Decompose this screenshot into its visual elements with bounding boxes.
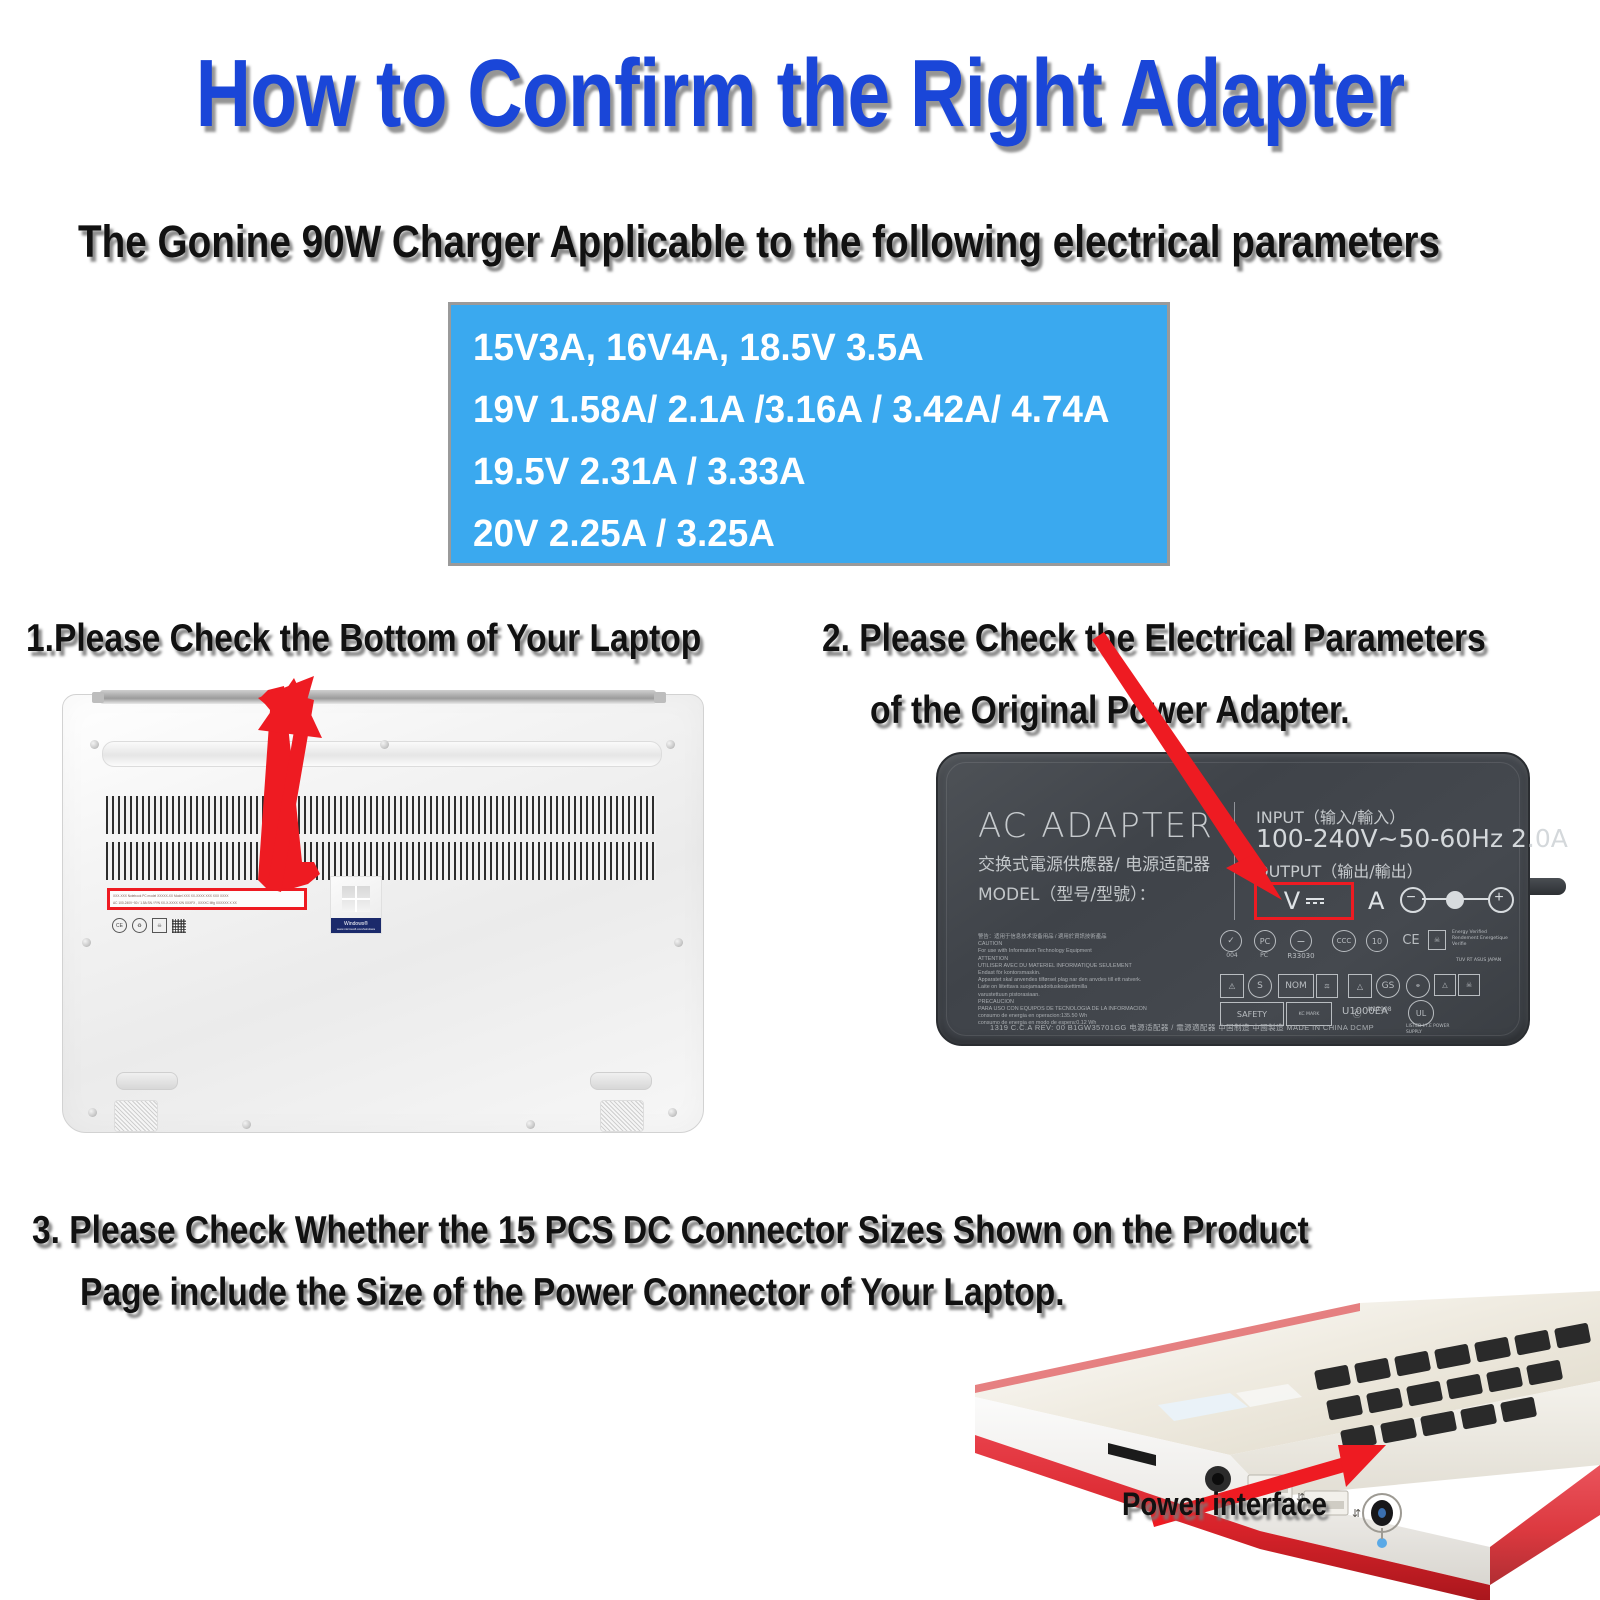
fineprint-line: Apparatet skal anvendes tilførsel plag n… <box>978 977 1208 984</box>
windows-logo-icon <box>342 886 370 912</box>
speaker-grille <box>114 1100 158 1132</box>
warning-triangle-icon: ⚠ <box>1220 974 1244 998</box>
section-3-heading-line2: Page include the Size of the Power Conne… <box>80 1270 1065 1316</box>
fineprint-line: For use with Information Technology Equi… <box>978 948 1208 955</box>
s-mark-icon: S <box>1248 974 1272 998</box>
adapter-bottom-line: 1319 C.C.A REV: 00 B1GW35701GG 电源适配器 / 電… <box>990 1022 1374 1033</box>
cert-code-004: 004 <box>1220 952 1244 959</box>
screw-hole <box>88 1108 97 1117</box>
windows-sticker-line2: www.microsoft.com/windows <box>337 927 375 931</box>
laptop-label-line-2: AC 100-240V~50 / 1.5A SN / P/N XX-X-XXXX… <box>113 901 301 906</box>
screw-hole <box>668 1108 677 1117</box>
svg-text:⇵: ⇵ <box>1352 1507 1361 1520</box>
subtitle: The Gonine 90W Charger Applicable to the… <box>78 216 1440 268</box>
vent-row-2 <box>106 842 656 880</box>
hinge-cap-left <box>92 692 104 703</box>
adapter-output-a: A <box>1368 887 1384 915</box>
adapter-output-v: V <box>1284 887 1300 915</box>
adapter-chinese-subtitle: 交换式電源供應器/ 电源适配器 <box>978 850 1210 875</box>
laptop-ports-photo: ⇵ ⇵ <box>930 1285 1600 1600</box>
ce-mark-icon: CE <box>1398 930 1424 950</box>
crossed-bin-icon: ☠ <box>1458 974 1480 996</box>
section-2-heading-line1: 2. Please Check the Electrical Parameter… <box>822 616 1486 662</box>
ul-listed-text: LISTED I.T.E POWER SUPPLY <box>1406 1024 1466 1035</box>
tuv-asus-mark: TUV RT ASUS JAPAN <box>1456 958 1512 964</box>
ccc-mark-icon: CCC <box>1332 930 1356 952</box>
laptop-hinge <box>100 690 656 704</box>
screw-hole <box>526 1120 535 1129</box>
fineprint-line: 警告：适用于信息技术设备用品 / 適用於資訊技術產品 <box>978 934 1208 941</box>
nom-mark-icon: NOM <box>1278 974 1314 998</box>
u1000ea-code: U1000EA <box>1342 1006 1388 1017</box>
fineprint-line: UTILISER AVEC DU MATERIEL INFORMATIQUE S… <box>978 963 1208 970</box>
polarity-icon: − + <box>1400 886 1510 914</box>
screw-hole <box>242 1120 251 1129</box>
psb-mark-icon: ⚖ <box>1316 974 1338 998</box>
section-2-heading-line2: of the Original Power Adapter. <box>870 688 1350 734</box>
section-1-heading: 1.Please Check the Bottom of Your Laptop <box>26 616 701 662</box>
fineprint-line: consumo de energia en operacion:135.50 W… <box>978 1013 1208 1020</box>
spec-line-1: 15V3A, 16V4A, 18.5V 3.5A <box>473 327 1146 369</box>
spec-line-4: 20V 2.25A / 3.25A <box>473 513 1146 555</box>
fineprint-line: CAUTION <box>978 941 1208 948</box>
gs-mark-icon: GS <box>1376 974 1400 998</box>
rubber-foot <box>590 1072 652 1090</box>
screw-hole <box>90 740 99 749</box>
windows-sticker: Windows® www.microsoft.com/windows <box>330 876 382 934</box>
fineprint-line: ATTENTION <box>978 956 1208 963</box>
laptop-side-illustration: ⇵ ⇵ <box>930 1285 1600 1600</box>
adapter-output-highlight: V <box>1254 882 1354 920</box>
ul-mark-icon: UL <box>1408 1000 1434 1026</box>
spec-line-3: 19.5V 2.31A / 3.33A <box>473 451 1146 493</box>
rubber-foot <box>116 1072 178 1090</box>
adapter-output-label: OUTPUT（输出/輸出） <box>1256 858 1423 882</box>
fineprint-line: Laite on liitettava suojamaadoituskosket… <box>978 984 1208 991</box>
screw-hole <box>82 938 91 947</box>
vent-row-1 <box>106 796 656 834</box>
energy-verified-mark: Energy Verified Rendement Energetique Ve… <box>1452 930 1508 948</box>
laptop-label-line-1: XXX-XXX Notebook PC model XXXXX-XX Model… <box>113 894 301 899</box>
fineprint-line: varustettuun pistorasiaan. <box>978 992 1208 999</box>
infographic-canvas: How to Confirm the Right Adapter The Gon… <box>0 0 1600 1600</box>
section-3-heading-line1: 3. Please Check Whether the 15 PCS DC Co… <box>32 1208 1309 1254</box>
eac-mark-icon: РС <box>1254 930 1276 952</box>
ac-adapter-photo: AC ADAPTER 交换式電源供應器/ 电源适配器 MODEL（型号/型號）：… <box>936 752 1566 1052</box>
fineprint-line: Endast för kontorsmaskin. <box>978 970 1208 977</box>
cert-code-eac: РС <box>1250 952 1278 959</box>
house-mark-icon: △ <box>1434 974 1456 996</box>
laptop-bottom-photo: XXX-XXX Notebook PC model XXXXX-XX Model… <box>62 676 702 1131</box>
recycle-mark-icon: ♻ <box>132 918 147 933</box>
page-title: How to Confirm the Right Adapter <box>160 42 1440 146</box>
adapter-model-label: MODEL（型号/型號）： <box>978 880 1156 905</box>
wheelie-bin-icon: ☠ <box>1428 930 1446 950</box>
cert-code-r33030: R33030 <box>1280 952 1322 960</box>
screw-hole <box>380 740 389 749</box>
windows-sticker-band: Windows® www.microsoft.com/windows <box>331 918 381 933</box>
fineprint-line: PRECAUCION <box>978 999 1208 1006</box>
hinge-cap-right <box>654 692 666 703</box>
screw-hole <box>666 740 675 749</box>
speaker-grille <box>600 1100 644 1132</box>
tick-mark-icon: ✓ <box>1220 930 1242 952</box>
spec-line-2: 19V 1.58A/ 2.1A /3.16A / 3.42A/ 4.74A <box>473 389 1146 431</box>
dc-current-icon <box>1306 896 1324 906</box>
rohs-10-icon: 10 <box>1366 930 1388 952</box>
adapter-input-value: 100-240V~50-60Hz 2.0A <box>1256 824 1568 853</box>
power-interface-label: Power interface <box>1122 1485 1327 1523</box>
a-mark-icon: △ <box>1348 974 1372 998</box>
adapter-body: AC ADAPTER 交换式電源供應器/ 电源适配器 MODEL（型号/型號）：… <box>936 752 1530 1046</box>
screw-hole <box>674 938 683 947</box>
kc-mark-icon: ⚭ <box>1406 974 1430 998</box>
laptop-spec-label-highlight: XXX-XXX Notebook PC model XXXXX-XX Model… <box>107 888 307 910</box>
adapter-title: AC ADAPTER <box>978 806 1214 846</box>
electrical-parameters-box: 15V3A, 16V4A, 18.5V 3.5A 19V 1.58A/ 2.1A… <box>448 302 1170 566</box>
minus-circle-icon: − <box>1290 930 1312 952</box>
weee-bin-icon: ☠ <box>152 918 167 933</box>
ce-mark-icon: CE <box>112 918 127 933</box>
adapter-fineprint: 警告：适用于信息技术设备用品 / 適用於資訊技術產品 CAUTION For u… <box>978 934 1208 1028</box>
laptop-cert-marks: CE ♻ ☠ <box>112 918 186 933</box>
fineprint-line: PARA USO CON EQUIPOS DE TECNOLOGIA DE LA… <box>978 1006 1208 1013</box>
qr-code-icon <box>172 919 186 933</box>
adapter-divider <box>1234 802 1235 920</box>
